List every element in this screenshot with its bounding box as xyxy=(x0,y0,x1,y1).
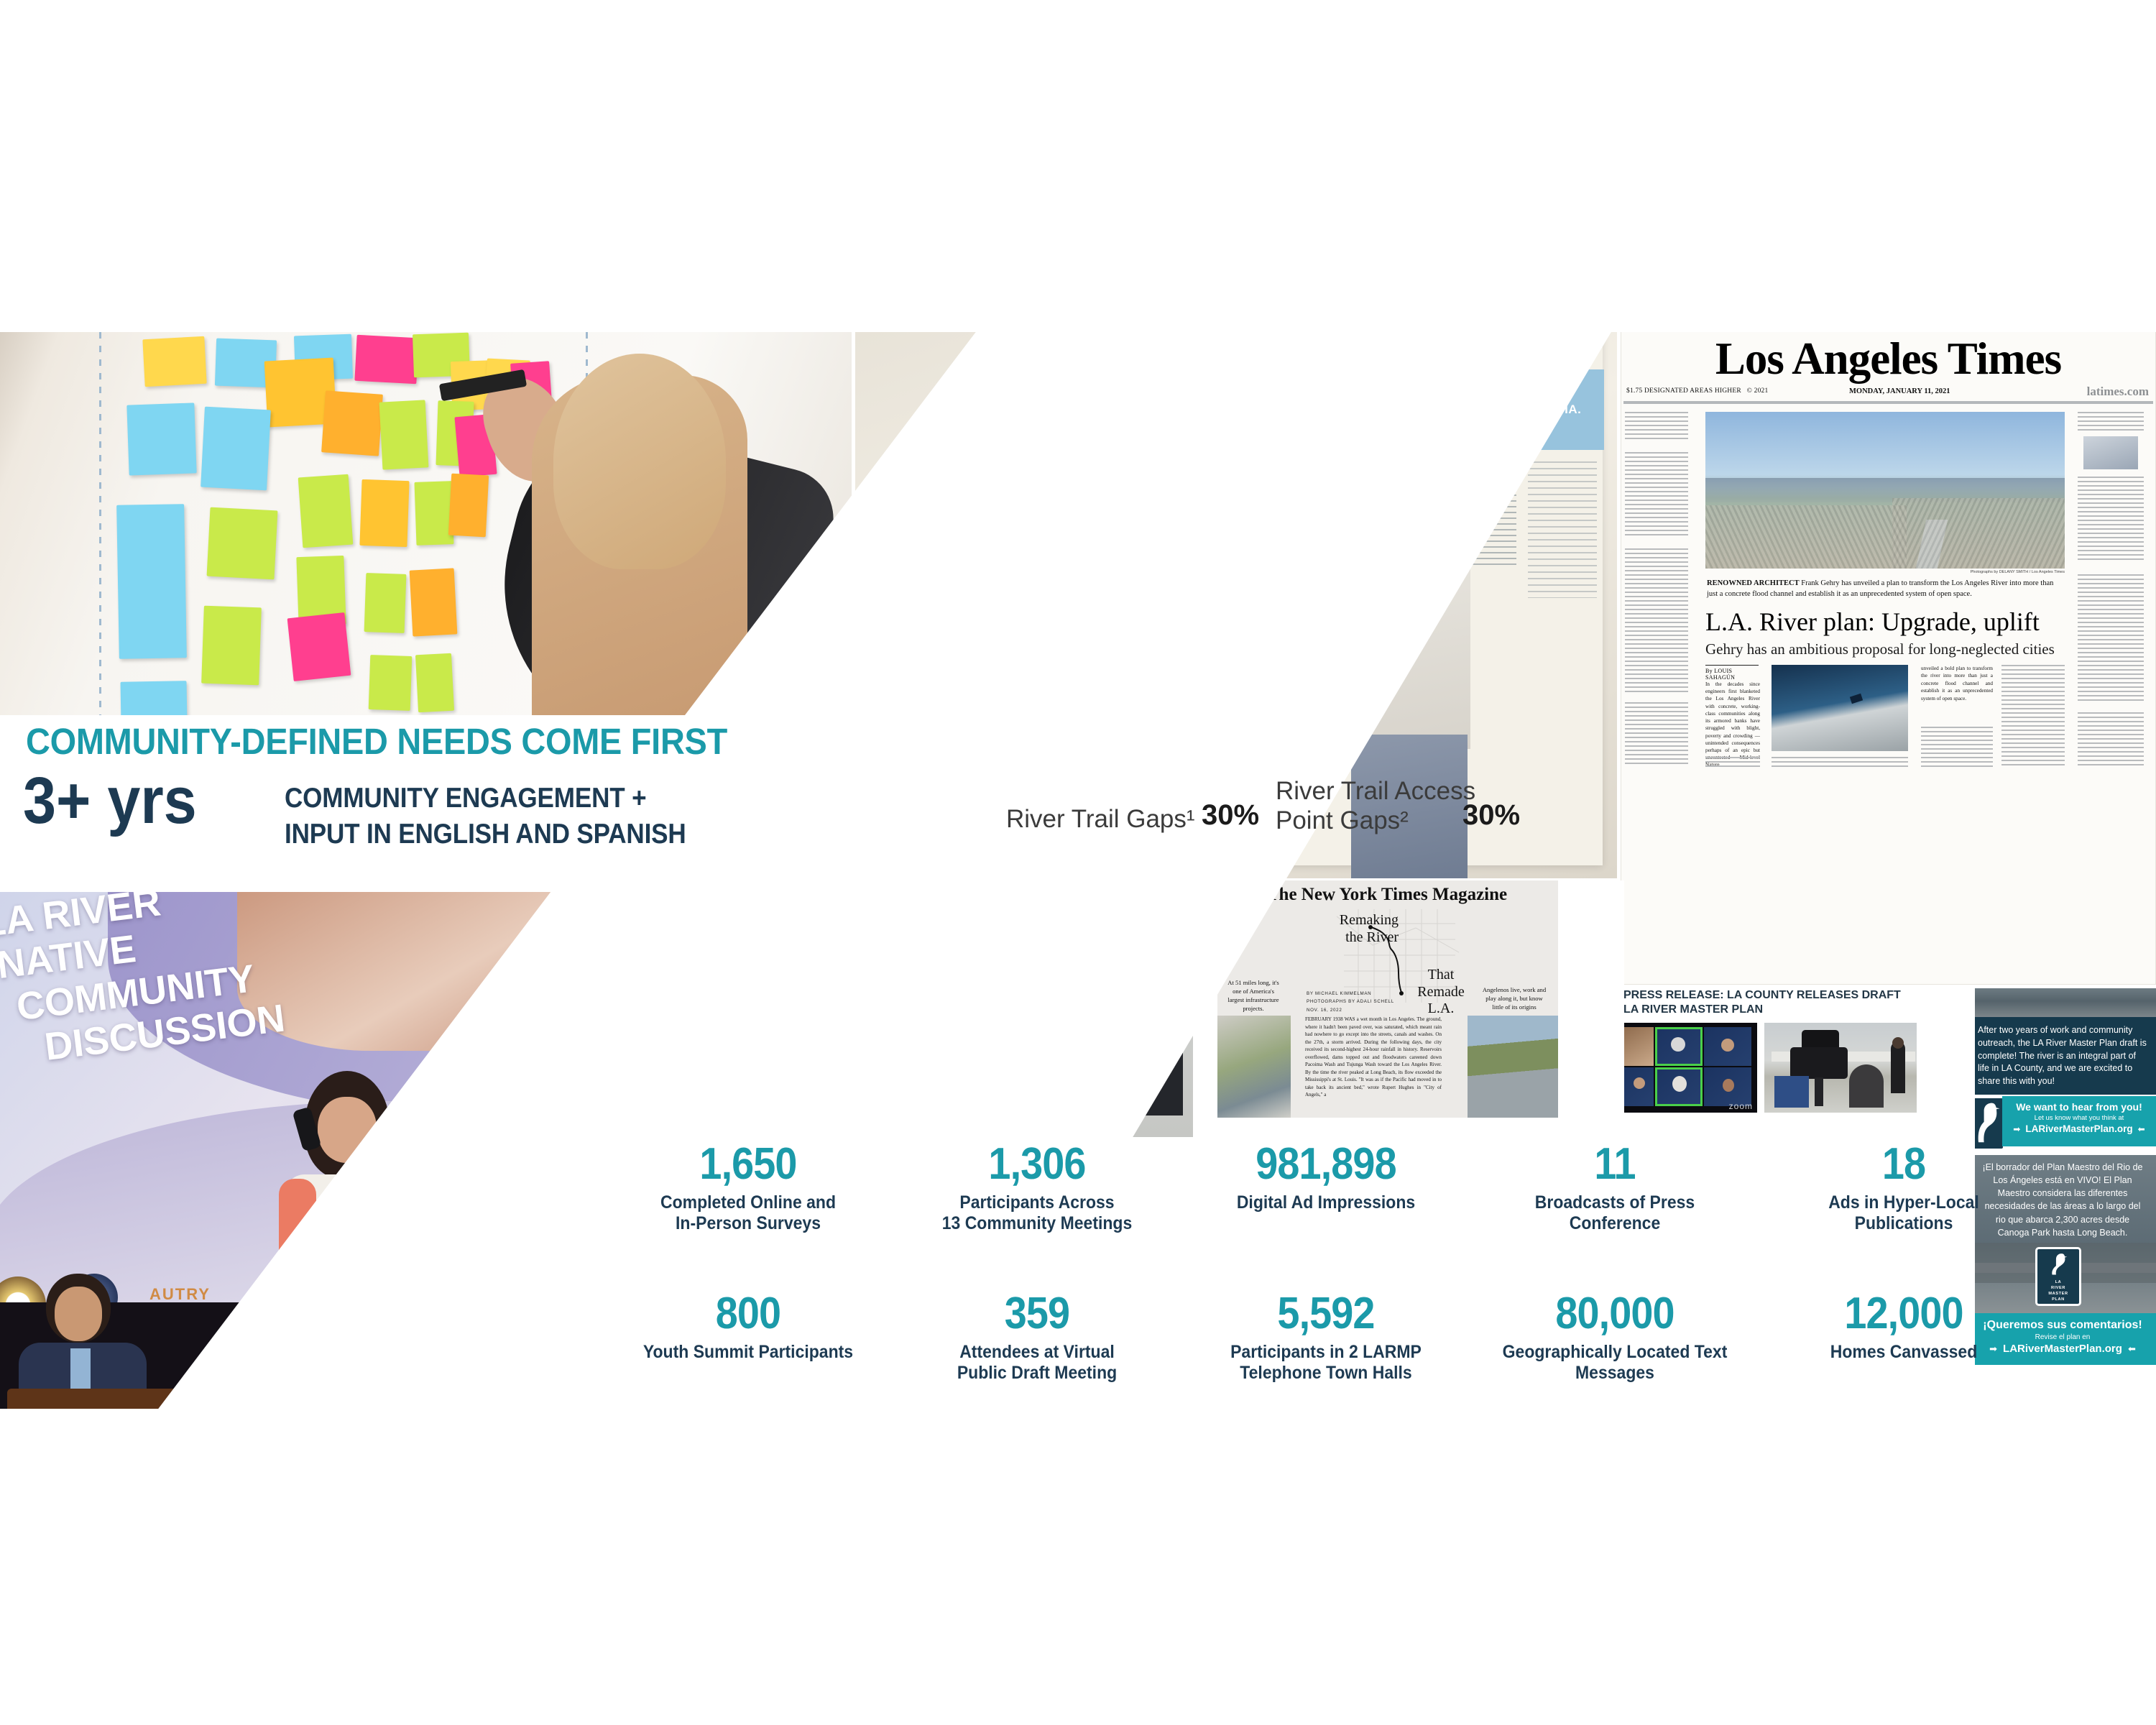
stat-number: 12,000 xyxy=(1779,1291,2028,1336)
stat-number: 359 xyxy=(912,1291,1161,1336)
nyt-byline: BY MICHAEL KIMMELMAN xyxy=(1307,990,1400,998)
nyt-title-left: Remakingthe River xyxy=(1312,912,1399,946)
zoom-call-screenshot: zoom xyxy=(1621,1023,1757,1113)
zoom-watermark: zoom xyxy=(1729,1101,1753,1111)
latimes-photo-credit: Photographs by DELANY SMITH / Los Angele… xyxy=(1705,570,2069,574)
stat-item: 800Youth Summit Participants xyxy=(604,1291,893,1383)
stat-label: Youth Summit Participants xyxy=(620,1342,875,1363)
latimes-body-col1: In the decades since engineers first bla… xyxy=(1705,681,1760,769)
stat-number: 800 xyxy=(623,1291,872,1336)
exhibit-metric-1-label: River Trail Gaps¹ xyxy=(1006,805,1195,834)
arrow-left-icon: ⬅ xyxy=(2138,1124,2145,1134)
subtext-line-2: INPUT IN ENGLISH AND SPANISH xyxy=(285,816,686,852)
social-english-post: After two years of work and community ou… xyxy=(1978,1024,2147,1088)
stat-item: 5,592Participants in 2 LARMPTelephone To… xyxy=(1181,1291,1470,1383)
latimes-kicker: RENOWNED ARCHITECT xyxy=(1707,579,1800,587)
stat-number: 80,000 xyxy=(1490,1291,1739,1336)
latimes-headline: L.A. River plan: Upgrade, uplift xyxy=(1705,609,2068,636)
nyt-date: NOV. 16, 2022 xyxy=(1307,1006,1400,1014)
stat-label: Attendees at VirtualPublic Draft Meeting xyxy=(909,1342,1164,1383)
latimes-date: MONDAY, JANUARY 11, 2021 xyxy=(1849,387,1950,395)
latimes-price-note: $1.75 DESIGNATED AREAS HIGHER xyxy=(1626,387,1741,395)
nyt-pullquote-right: Angelenos live, work and play along it, … xyxy=(1482,985,1547,1011)
stat-label: Broadcasts of PressConference xyxy=(1487,1192,1742,1233)
logo-line-3: MASTER xyxy=(2048,1292,2068,1296)
stat-number: 18 xyxy=(1779,1141,2028,1187)
stat-number: 5,592 xyxy=(1201,1291,1450,1336)
stat-item: 1,650Completed Online andIn-Person Surve… xyxy=(604,1141,893,1233)
exhibit-metric-1-value: 30% xyxy=(1202,799,1259,832)
stat-item: 981,898Digital Ad Impressions xyxy=(1181,1141,1470,1233)
stat-label: Completed Online andIn-Person Surveys xyxy=(620,1192,875,1233)
stat-number: 1,650 xyxy=(623,1141,872,1187)
latimes-subhead: Gehry has an ambitious proposal for long… xyxy=(1705,640,2068,658)
statistics-row-2: 800Youth Summit Participants359Attendees… xyxy=(604,1291,2048,1383)
stat-label: Ads in Hyper-LocalPublications xyxy=(1776,1192,2031,1233)
subtext-line-1: COMMUNITY ENGAGEMENT + xyxy=(285,781,686,816)
statistics-grid: 1,650Completed Online andIn-Person Surve… xyxy=(604,1141,2048,1383)
photo-nyt-magazine-spread: The New York Times Magazine Remakingthe … xyxy=(1215,880,1560,1118)
stat-item: 359Attendees at VirtualPublic Draft Meet… xyxy=(893,1291,1181,1383)
stat-item: 1,306Participants Across13 Community Mee… xyxy=(893,1141,1181,1233)
stat-label: Participants Across13 Community Meetings xyxy=(909,1192,1164,1233)
photo-press-conference xyxy=(1764,1023,1917,1113)
logo-line-1: LA xyxy=(2055,1280,2062,1284)
white-gap-mid xyxy=(751,880,780,1139)
stat-label: Homes Canvassed xyxy=(1776,1342,2031,1363)
stat-label: Digital Ad Impressions xyxy=(1198,1192,1453,1213)
big-stat-years: 3+ yrs xyxy=(23,768,197,834)
white-wedge-top-right xyxy=(1617,0,2156,331)
heron-logo-icon xyxy=(2046,1251,2070,1276)
nyt-title-right: ThatRemadeL.A. xyxy=(1400,967,1482,1018)
latimes-byline: By LOUIS SAHAGÚN xyxy=(1705,665,1759,681)
arrow-left-icon: ⬅ xyxy=(2128,1343,2136,1355)
white-gap-1 xyxy=(1193,880,1217,1125)
slide-board: ENCIA DIRIGIDO ETAS THE REIMAGINED RIVER… xyxy=(0,0,2156,1725)
social-en-banner-sub: Let us know what you think at xyxy=(2002,1114,2156,1122)
headline-subtext: COMMUNITY ENGAGEMENT + INPUT IN ENGLISH … xyxy=(285,781,686,852)
stat-item: 18Ads in Hyper-LocalPublications xyxy=(1759,1141,2048,1233)
social-en-banner-url: LARiverMasterPlan.org xyxy=(2025,1123,2132,1134)
latimes-website: latimes.com xyxy=(2087,385,2149,399)
white-gap-2 xyxy=(1558,880,1624,1125)
stat-item: 80,000Geographically Located TextMessage… xyxy=(1470,1291,1759,1383)
photo-press-release-block: PRESS RELEASE: LA COUNTY RELEASES DRAFT … xyxy=(1621,988,1962,1154)
latimes-body-col2: unveiled a bold plan to transform the ri… xyxy=(1921,665,1993,702)
logo-line-2: RIVER xyxy=(2051,1286,2065,1290)
nyt-pullquote-left: At 51 miles long, it's one of America's … xyxy=(1226,978,1281,1013)
nyt-lede-paragraph: FEBRUARY 1938 WAS a wet month in Los Ang… xyxy=(1305,1016,1442,1099)
stat-number: 1,306 xyxy=(912,1141,1161,1187)
stat-item: 11Broadcasts of PressConference xyxy=(1470,1141,1759,1233)
arrow-right-icon: ➡ xyxy=(2013,1124,2020,1134)
exhibit-metric-2-label: River Trail Access Point Gaps² xyxy=(1276,776,1475,836)
logo-line-4: PLAN xyxy=(2052,1297,2065,1302)
exhibit-metric-2-value: 30% xyxy=(1462,799,1520,832)
stat-number: 981,898 xyxy=(1201,1141,1450,1187)
nyt-photo-credit: PHOTOGRAPHS BY ADALI SCHELL xyxy=(1307,998,1400,1006)
stat-number: 11 xyxy=(1490,1141,1739,1187)
stat-label: Participants in 2 LARMPTelephone Town Ha… xyxy=(1198,1342,1453,1383)
white-wedge-bottom xyxy=(0,1409,2156,1725)
latimes-copyright: © 2021 xyxy=(1747,387,1769,395)
stat-item: 12,000Homes Canvassed xyxy=(1759,1291,2048,1383)
statistics-row-1: 1,650Completed Online andIn-Person Surve… xyxy=(604,1141,2048,1233)
nyt-photo-riverbed xyxy=(1468,1016,1560,1118)
press-release-title: PRESS RELEASE: LA COUNTY RELEASES DRAFT … xyxy=(1623,988,1961,1017)
latimes-masthead: Los Angeles Times xyxy=(1621,333,2156,385)
social-en-banner-title: We want to hear from you! xyxy=(2002,1101,2156,1113)
nyt-photo-aerial xyxy=(1215,1016,1291,1118)
stat-label: Geographically Located TextMessages xyxy=(1487,1342,1742,1383)
page-headline: COMMUNITY-DEFINED NEEDS COME FIRST xyxy=(26,720,727,763)
photo-latimes-front-page: Los Angeles Times $1.75 DESIGNATED AREAS… xyxy=(1621,327,2156,985)
